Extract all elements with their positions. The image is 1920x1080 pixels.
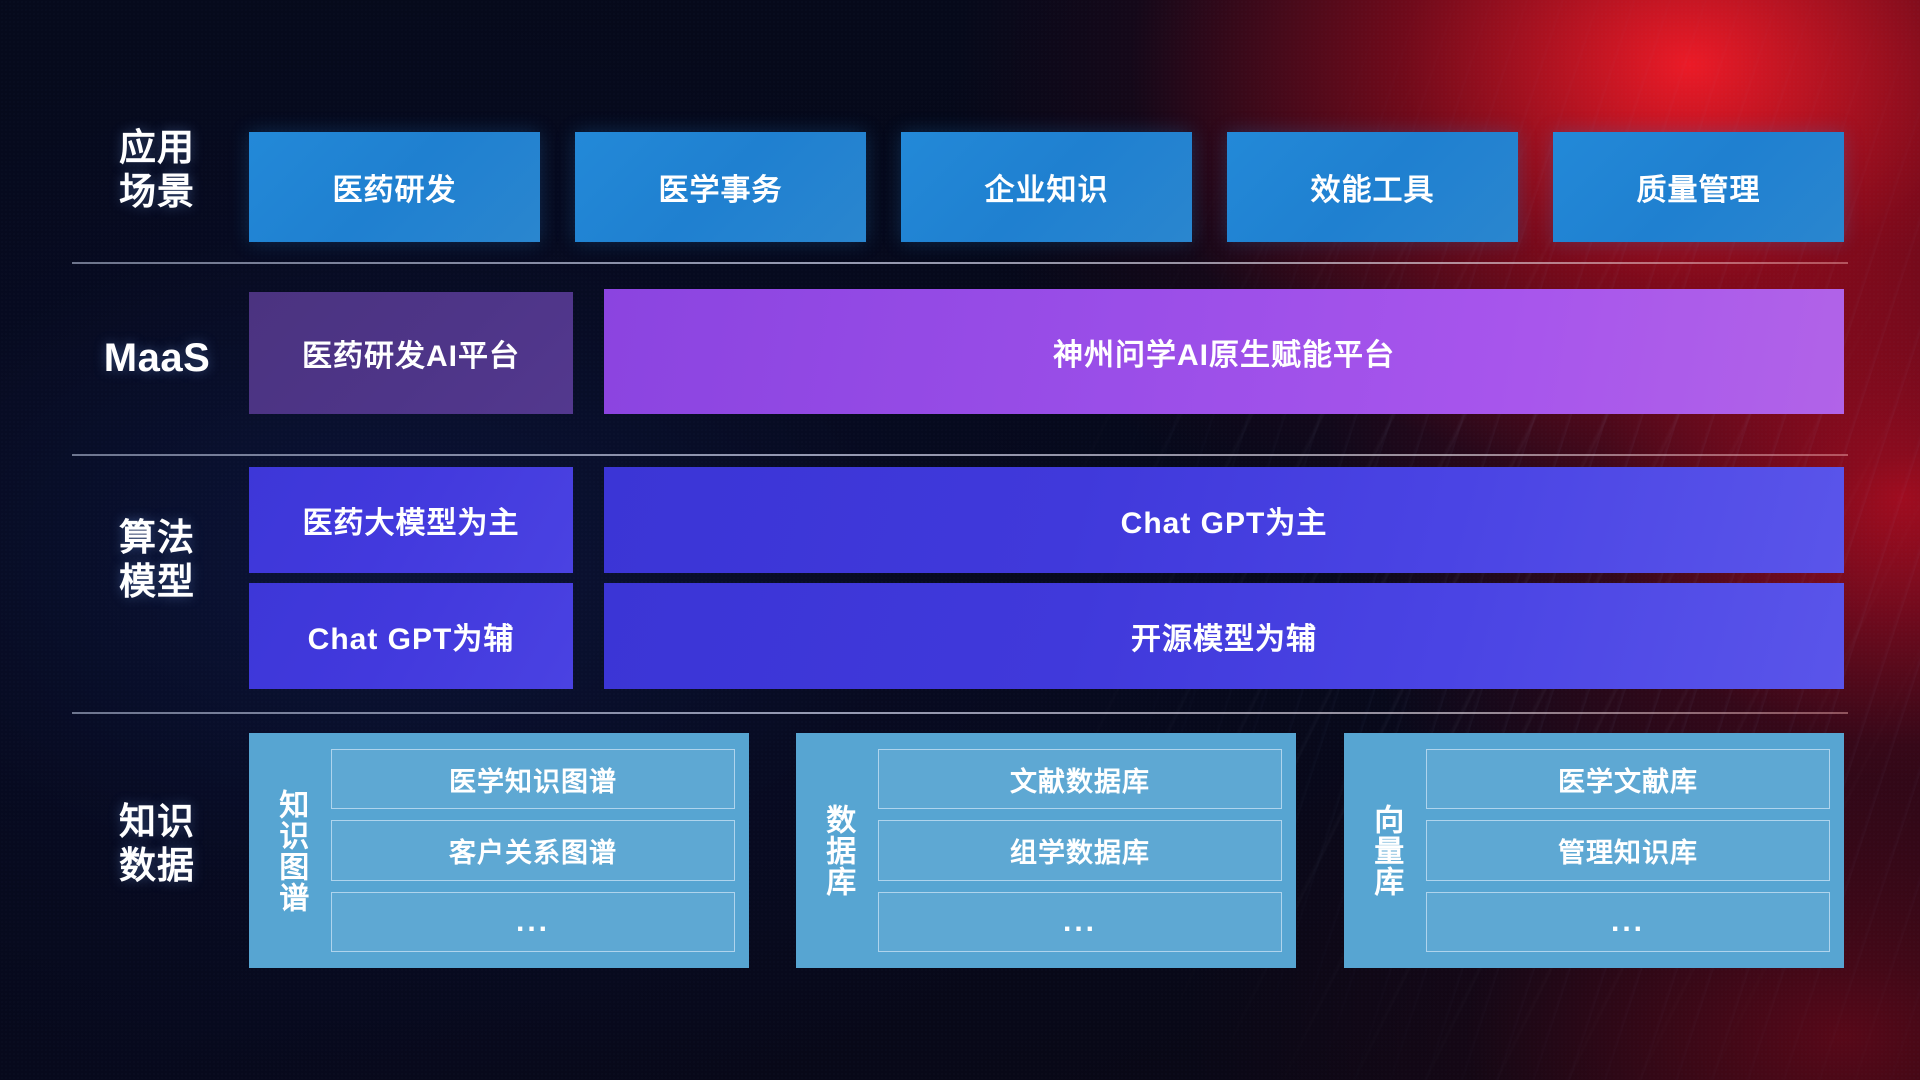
slide-canvas: 应用 场景 医药研发 医学事务 企业知识 效能工具 质量管理 MaaS 医药研发…	[0, 0, 1920, 1080]
architecture-diagram: 应用 场景 医药研发 医学事务 企业知识 效能工具 质量管理 MaaS 医药研发…	[0, 0, 1920, 1080]
row-label-knowledge-line2: 数据	[72, 844, 242, 888]
knowledge-item-more[interactable]: ...	[1426, 892, 1830, 952]
algo-card-chatgpt-secondary[interactable]: Chat GPT为辅	[249, 583, 573, 689]
maas-card-label: 医药研发AI平台	[302, 331, 520, 375]
algo-card-drug-llm-primary[interactable]: 医药大模型为主	[249, 467, 573, 573]
algo-card-opensource-secondary[interactable]: 开源模型为辅	[604, 583, 1844, 689]
row-label-knowledge: 知识 数据	[72, 800, 242, 887]
knowledge-panel-vector-store[interactable]: 向量库 医学文献库 管理知识库 ...	[1344, 733, 1844, 968]
algo-card-label: 医药大模型为主	[303, 498, 520, 542]
knowledge-panel-title: 向量库	[1356, 749, 1414, 952]
algo-card-label: 开源模型为辅	[1131, 614, 1317, 658]
knowledge-item[interactable]: 医学文献库	[1426, 749, 1830, 809]
knowledge-item[interactable]: 客户关系图谱	[331, 820, 735, 880]
algo-card-label: Chat GPT为主	[1121, 498, 1328, 542]
knowledge-item-more[interactable]: ...	[878, 892, 1282, 952]
knowledge-panel-title: 数据库	[808, 749, 866, 952]
app-card-label: 质量管理	[1637, 165, 1761, 209]
knowledge-item-more[interactable]: ...	[331, 892, 735, 952]
knowledge-item[interactable]: 文献数据库	[878, 749, 1282, 809]
app-card-label: 企业知识	[985, 165, 1109, 209]
knowledge-panel-knowledge-graph[interactable]: 知识图谱 医学知识图谱 客户关系图谱 ...	[249, 733, 749, 968]
separator-maas-algorithm	[72, 454, 1848, 456]
app-card-quality-management[interactable]: 质量管理	[1553, 132, 1844, 242]
knowledge-panel-items: 医学文献库 管理知识库 ...	[1426, 749, 1830, 952]
app-card-label: 效能工具	[1311, 165, 1435, 209]
maas-card-drug-rd-ai-platform[interactable]: 医药研发AI平台	[249, 292, 573, 414]
row-label-algorithm-line1: 算法	[72, 516, 242, 560]
knowledge-panel-title: 知识图谱	[261, 749, 319, 952]
row-label-algorithm: 算法 模型	[72, 516, 242, 603]
row-label-application-line2: 场景	[72, 170, 242, 214]
row-label-application-line1: 应用	[72, 126, 242, 170]
app-card-label: 医学事务	[659, 165, 783, 209]
row-label-maas-text: MaaS	[72, 335, 242, 382]
algo-card-chatgpt-primary[interactable]: Chat GPT为主	[604, 467, 1844, 573]
app-card-medical-affairs[interactable]: 医学事务	[575, 132, 866, 242]
knowledge-item[interactable]: 组学数据库	[878, 820, 1282, 880]
separator-algorithm-knowledge	[72, 712, 1848, 714]
knowledge-item[interactable]: 医学知识图谱	[331, 749, 735, 809]
knowledge-panel-database[interactable]: 数据库 文献数据库 组学数据库 ...	[796, 733, 1296, 968]
app-card-enterprise-knowledge[interactable]: 企业知识	[901, 132, 1192, 242]
separator-application-maas	[72, 262, 1848, 264]
row-label-knowledge-line1: 知识	[72, 800, 242, 844]
row-label-maas: MaaS	[72, 335, 242, 382]
row-label-algorithm-line2: 模型	[72, 560, 242, 604]
knowledge-item[interactable]: 管理知识库	[1426, 820, 1830, 880]
row-label-application: 应用 场景	[72, 126, 242, 213]
app-card-label: 医药研发	[333, 165, 457, 209]
algo-card-label: Chat GPT为辅	[308, 614, 515, 658]
app-card-drug-rd[interactable]: 医药研发	[249, 132, 540, 242]
app-card-efficiency-tools[interactable]: 效能工具	[1227, 132, 1518, 242]
knowledge-panel-items: 文献数据库 组学数据库 ...	[878, 749, 1282, 952]
knowledge-panel-items: 医学知识图谱 客户关系图谱 ...	[331, 749, 735, 952]
maas-card-shenzhou-wenxue-platform[interactable]: 神州问学AI原生赋能平台	[604, 289, 1844, 414]
maas-card-label: 神州问学AI原生赋能平台	[1053, 330, 1395, 374]
